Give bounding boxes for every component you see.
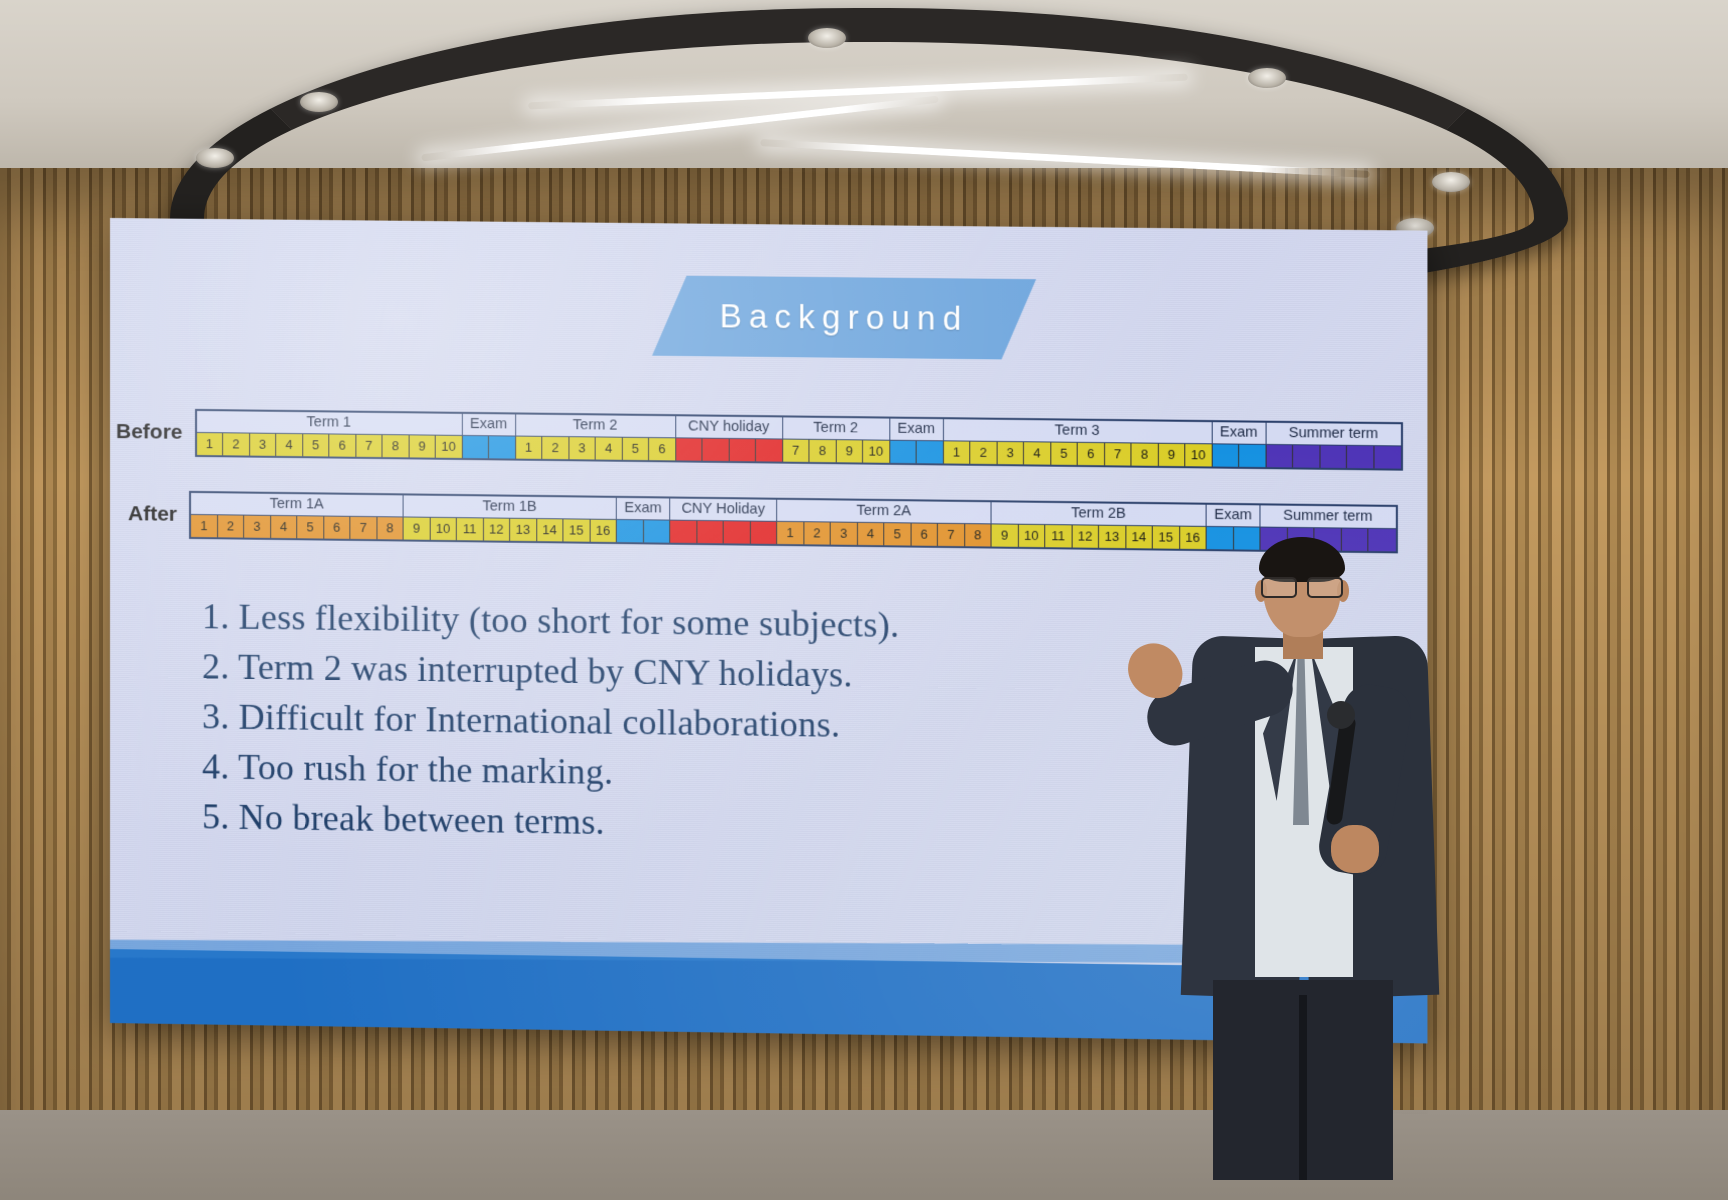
timeline-week-cell: 8	[377, 517, 404, 539]
issue-list: 1. Less flexibility (too short for some …	[202, 591, 899, 851]
timeline-week-cell: 1	[777, 522, 804, 544]
timeline-week-cell: 5	[297, 516, 324, 538]
eyeglasses	[1261, 577, 1343, 594]
timeline-week-cell: 5	[884, 523, 911, 545]
timeline-week-cell: 3	[569, 437, 596, 459]
ceiling-spot-light	[300, 92, 338, 112]
timeline-week-cell: 6	[324, 517, 351, 539]
microphone-head	[1327, 701, 1355, 729]
timeline-week-cell: 8	[383, 435, 410, 457]
timeline-week-cell: 4	[1024, 442, 1051, 464]
timeline-week-cell	[1320, 446, 1347, 469]
timeline-week-cell	[1374, 446, 1401, 469]
timeline-week-cell: 10	[1185, 444, 1212, 466]
timeline-week-cell: 7	[356, 435, 383, 457]
timeline-section-header: Exam	[1207, 505, 1261, 527]
timeline-week-cell	[676, 438, 703, 460]
timeline-week-cell	[1212, 444, 1239, 466]
floor	[0, 1110, 1728, 1200]
ceiling-spot-light	[1432, 172, 1470, 192]
timeline-section-header: Exam	[1212, 422, 1266, 444]
timeline-section-header: Exam	[617, 498, 670, 520]
timeline-week-cell: 4	[857, 523, 884, 545]
timeline-section-header: Term 1A	[191, 493, 404, 517]
timeline-week-cell: 2	[804, 522, 831, 544]
ceiling-spot-light	[808, 28, 846, 48]
timeline-week-cell	[724, 521, 751, 543]
timeline-week-cell: 4	[276, 434, 303, 456]
banner-shape: Background	[652, 275, 1036, 359]
timeline-week-cell: 2	[223, 433, 250, 455]
timeline-week-cell	[697, 521, 724, 543]
timeline-section-header: Summer term	[1266, 423, 1401, 446]
timeline-section-header: Term 1B	[404, 495, 617, 519]
hand-right-holding-mic	[1331, 825, 1379, 873]
timeline-week-cell	[670, 521, 697, 543]
timeline-week-cell	[489, 436, 516, 458]
timeline-week-cell	[756, 439, 783, 461]
timeline-week-cell: 7	[783, 440, 810, 462]
timeline-week-cell	[617, 520, 644, 542]
timeline-week-cell	[729, 439, 756, 461]
list-item: 5. No break between terms.	[202, 791, 899, 851]
timeline-week-cell: 9	[992, 524, 1019, 546]
timeline-week-cell: 1	[197, 433, 224, 455]
ceiling-spot-light	[196, 148, 234, 168]
timeline-week-cell	[703, 439, 730, 461]
trouser-seam	[1299, 995, 1307, 1180]
timeline-table: Term 1ExamTerm 2CNY holidayTerm 2ExamTer…	[195, 409, 1403, 471]
timeline-week-cell: 10	[436, 436, 463, 458]
timeline-week-cell: 1	[943, 441, 970, 463]
list-item: 1. Less flexibility (too short for some …	[202, 591, 899, 650]
timeline-week-cell	[890, 441, 917, 463]
timeline-week-cell: 7	[938, 524, 965, 546]
timeline-week-cell: 6	[649, 438, 676, 460]
timeline-section-header: CNY holiday	[676, 416, 783, 438]
timeline-week-cell: 12	[1072, 525, 1099, 547]
timeline-section-header: Term 1	[197, 411, 463, 435]
timeline-label: Before	[116, 420, 183, 457]
timeline-week-cell: 9	[409, 435, 436, 457]
timeline-week-cell: 11	[457, 518, 484, 540]
timeline-week-cell: 2	[218, 515, 245, 537]
slide-title-banner: Background	[652, 275, 1036, 359]
timeline-section-header: Term 2B	[992, 502, 1207, 526]
timeline-week-cell: 8	[965, 524, 992, 546]
timeline-week-cell	[917, 441, 944, 463]
timeline-week-cell	[1266, 445, 1293, 467]
timeline-week-cell: 5	[622, 438, 649, 460]
timeline-week-cell: 10	[1018, 525, 1045, 547]
timeline-section-header: Term 3	[943, 419, 1212, 443]
timeline-week-cell: 11	[1045, 525, 1072, 547]
timeline-week-cell: 8	[1131, 443, 1158, 465]
timeline-week-cell: 2	[542, 437, 569, 459]
timeline-week-cell: 6	[911, 523, 938, 545]
timeline-week-cell	[462, 436, 489, 458]
timeline-week-cell: 13	[1099, 526, 1126, 548]
timeline-week-cell: 9	[404, 517, 431, 539]
timeline-week-cell: 14	[537, 519, 564, 541]
timeline-week-cell	[750, 522, 777, 544]
page-title: Background	[720, 297, 969, 338]
timeline-week-cell: 5	[1051, 443, 1078, 465]
timeline-week-cell	[1347, 446, 1374, 469]
ceiling-spot-light	[1248, 68, 1286, 88]
presenter	[1135, 525, 1465, 1125]
timeline-section-header: Exam	[890, 419, 944, 441]
timeline-week-cell: 9	[1158, 444, 1185, 466]
timeline-week-cell: 9	[836, 440, 863, 462]
timeline-week-cell: 1	[191, 515, 218, 537]
timeline-section-header: CNY Holiday	[670, 499, 777, 521]
timeline-week-cell: 13	[510, 519, 537, 541]
timeline-week-cell: 8	[809, 440, 836, 462]
timeline-week-cell: 10	[430, 518, 457, 540]
timeline-week-cell: 4	[596, 437, 623, 459]
timeline-week-cell: 16	[590, 520, 617, 542]
timeline-week-cell	[1293, 445, 1320, 467]
timeline-week-cell: 6	[1078, 443, 1105, 465]
timeline-row-before: Before Term 1ExamTerm 2CNY holidayTerm 2…	[116, 408, 1403, 471]
hair	[1259, 537, 1345, 582]
timeline-week-cell: 7	[350, 517, 377, 539]
timeline-week-cell: 3	[997, 442, 1024, 464]
timeline-week-cell: 10	[863, 440, 890, 462]
timeline-week-cell: 1	[516, 437, 543, 459]
timeline-week-cell	[644, 520, 671, 542]
timeline-section-header: Term 2	[516, 414, 676, 437]
timeline-week-cell: 5	[303, 434, 330, 456]
timeline-week-cell: 12	[483, 518, 510, 540]
list-item: 2. Term 2 was interrupted by CNY holiday…	[202, 641, 899, 700]
timeline-week-cell: 4	[271, 516, 298, 538]
timeline-week-cell: 3	[831, 522, 858, 544]
timeline-label: After	[128, 502, 177, 539]
timeline-week-cell	[1239, 445, 1266, 467]
timeline-week-cell: 2	[970, 442, 997, 464]
timeline-section-header: Term 2A	[777, 500, 991, 524]
timeline-section-header: Term 2	[783, 417, 890, 439]
timeline-section-header: Exam	[462, 414, 515, 436]
timeline-week-cell: 3	[244, 516, 271, 538]
timeline-week-cell: 7	[1105, 443, 1132, 465]
timeline-week-cell: 3	[250, 434, 277, 456]
timeline-week-cell: 15	[563, 519, 590, 541]
timeline-week-cell: 6	[329, 434, 356, 456]
